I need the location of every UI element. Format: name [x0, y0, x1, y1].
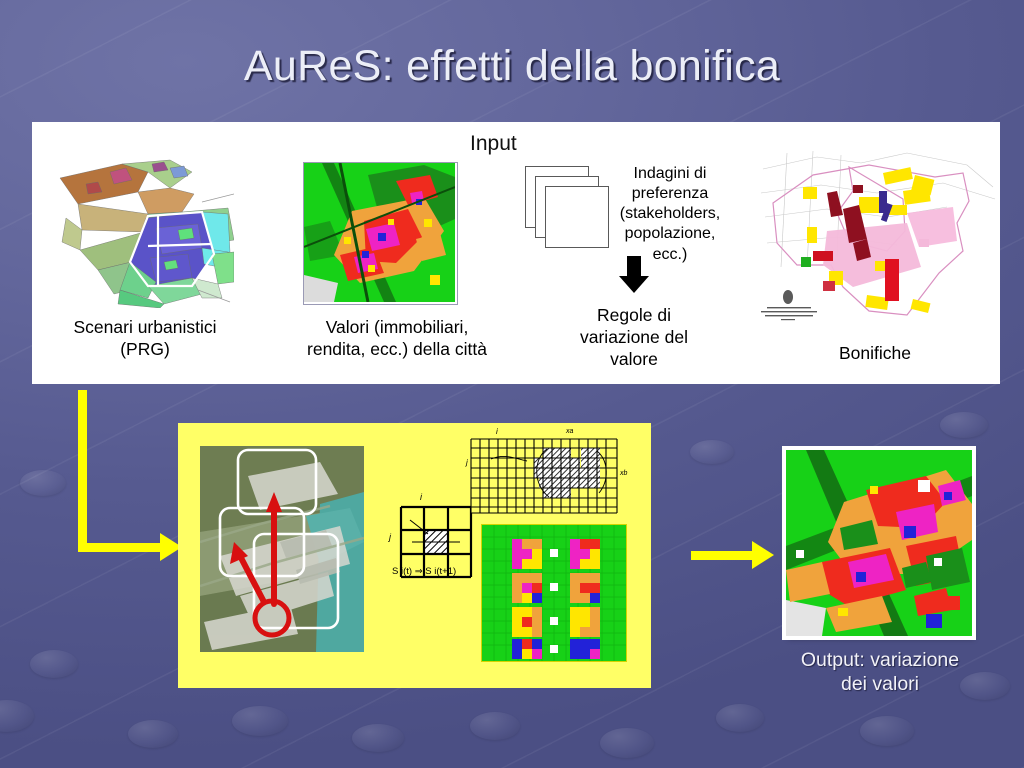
- background-bubble: [690, 440, 734, 464]
- mesh-grid-icon: [469, 437, 619, 515]
- background-bubble: [30, 650, 78, 678]
- grid-label-j: j: [389, 532, 391, 542]
- mesh-label-j: j: [466, 458, 468, 467]
- background-bubble: [232, 706, 288, 736]
- arrow-shaft-vertical: [78, 390, 87, 552]
- caption-regole-variazione: Regole di variazione del valore: [550, 304, 718, 370]
- value-variation-map-icon: [786, 450, 972, 636]
- regole-line-2: variazione del: [550, 326, 718, 348]
- caption-line-2: rendita, ecc.) della città: [292, 338, 502, 360]
- input-heading: Input: [470, 132, 517, 156]
- indagini-line-3: (stakeholders,: [595, 204, 745, 224]
- caption-line-1: Scenari urbanistici: [50, 316, 240, 338]
- caption-bonifiche: Bonifiche: [780, 342, 970, 364]
- text-indagini-preferenza: Indagini di preferenza (stakeholders, po…: [595, 164, 745, 265]
- mesh-label-xa: xa: [566, 428, 573, 435]
- background-bubble: [940, 412, 988, 438]
- background-bubble: [470, 712, 520, 740]
- mesh-label-i: i: [496, 427, 498, 436]
- background-bubble: [352, 724, 404, 752]
- slide-canvas: AuReS: effetti della bonifica Input: [0, 0, 1024, 768]
- thumbnail-scenari-urbanistici[interactable]: [52, 158, 234, 308]
- background-bubble: [860, 716, 914, 746]
- regole-line-1: Regole di: [550, 304, 718, 326]
- state-transition-formula: S i(t) ⇒ S i(t+1): [392, 566, 456, 577]
- output-caption-line-2: dei valori: [762, 672, 998, 696]
- slide-title: AuReS: effetti della bonifica: [0, 42, 1024, 91]
- regole-line-3: valore: [550, 348, 718, 370]
- caption-line-2: (PRG): [50, 338, 240, 360]
- caption-valori-citta: Valori (immobiliari, rendita, ecc.) dell…: [292, 316, 502, 360]
- indagini-line-2: preferenza: [595, 184, 745, 204]
- indagini-line-4: popolazione,: [595, 224, 745, 244]
- output-caption-line-1: Output: variazione: [762, 648, 998, 672]
- remediation-plan-map-icon: [757, 147, 1000, 322]
- mesh-label-xb: xb: [620, 470, 627, 477]
- indagini-line-5: ecc.): [595, 245, 745, 265]
- background-bubble: [600, 728, 654, 758]
- background-bubble: [716, 704, 764, 732]
- caption-scenari-urbanistici: Scenari urbanistici (PRG): [50, 316, 240, 360]
- arrow-head: [752, 541, 774, 569]
- caption-line-1: Bonifiche: [780, 342, 970, 364]
- aerial-photo[interactable]: [200, 446, 364, 652]
- arrow-shaft-horizontal: [78, 543, 164, 552]
- down-arrow-icon: [627, 256, 641, 276]
- cellular-automata-icon: [482, 525, 626, 661]
- background-bubble: [128, 720, 178, 748]
- background-bubble: [0, 700, 34, 732]
- cellular-automata-rules: [481, 524, 627, 662]
- thumbnail-valori-citta[interactable]: [303, 162, 458, 305]
- caption-output: Output: variazione dei valori: [762, 648, 998, 697]
- background-bubble: [20, 470, 66, 496]
- indagini-line-1: Indagini di: [595, 164, 745, 184]
- grid-label-i: i: [420, 492, 422, 502]
- thumbnail-bonifiche[interactable]: [757, 147, 1000, 322]
- output-map[interactable]: [786, 450, 972, 636]
- arrow-shaft: [691, 551, 755, 560]
- aerial-photo-image: [200, 446, 364, 652]
- raster-value-map-icon: [304, 163, 455, 302]
- caption-line-1: Valori (immobiliari,: [292, 316, 502, 338]
- prg-zoning-map-icon: [52, 158, 234, 308]
